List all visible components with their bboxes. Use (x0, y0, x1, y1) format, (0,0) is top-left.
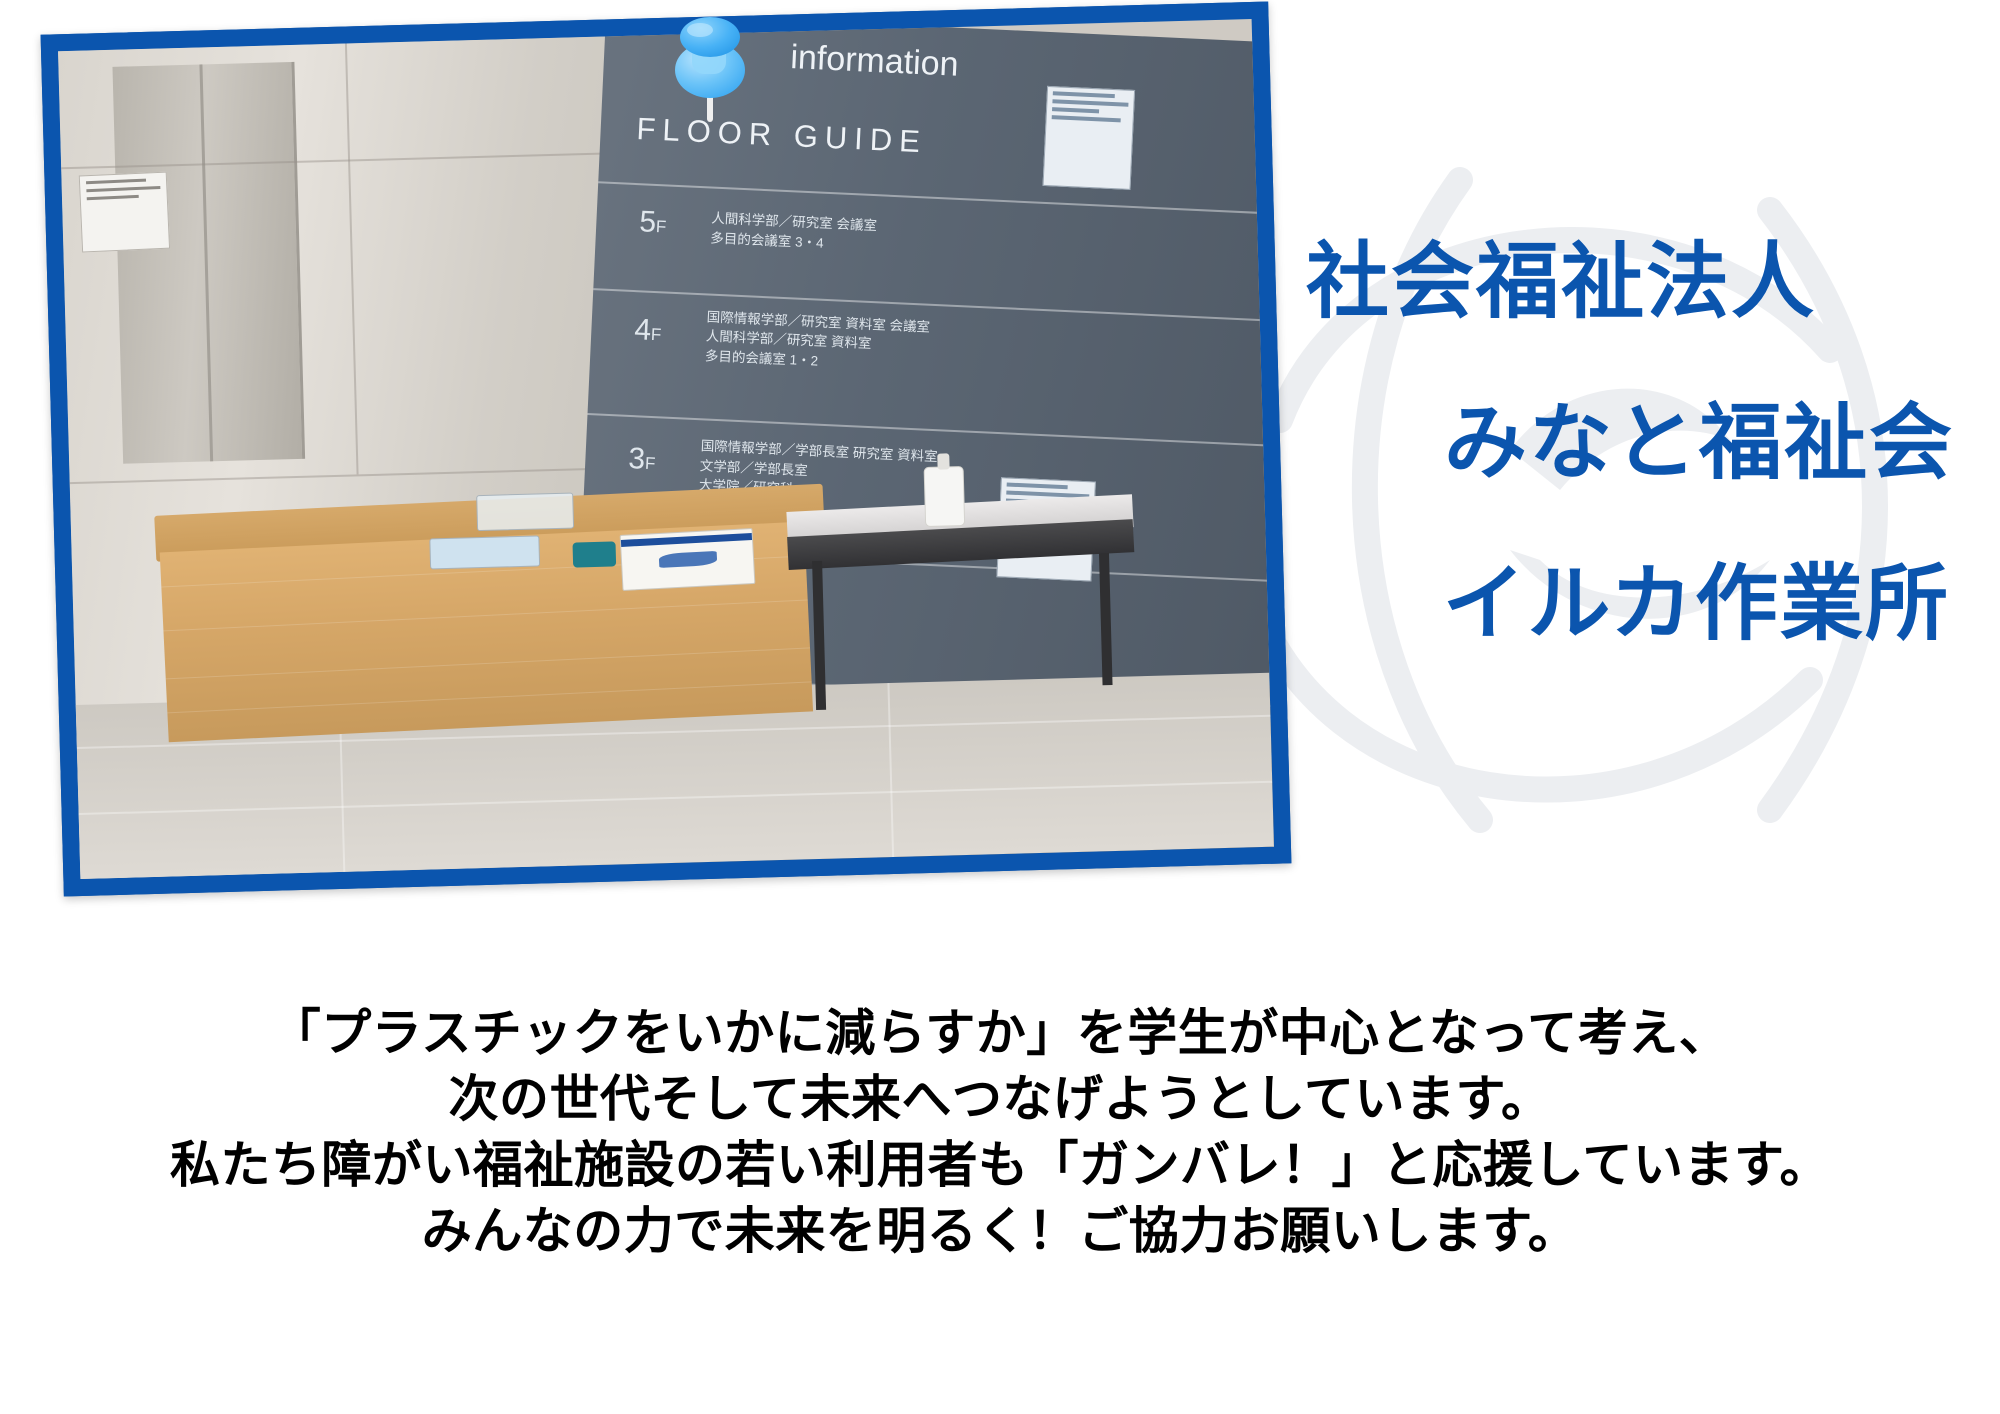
leaflet-on-table (430, 535, 540, 569)
headline-line-3: イルカ作業所 (1290, 562, 1950, 645)
sign-brand: information (790, 38, 960, 85)
headline-line-2: みなと福祉会 (1290, 401, 1954, 484)
caption-line-4: みんなの力で未来を明るく！ご協力お願いします。 (0, 1198, 2000, 1264)
jbag-flyer-on-table (620, 528, 756, 591)
caption-line-1: 「プラスチックをいかに減らすか」を学生が中心となって考え、 (0, 1000, 2000, 1066)
no-smoking-sign (79, 172, 170, 252)
caption-line-2: 次の世代そして未来へつなげようとしています。 (0, 1066, 2000, 1132)
organization-headline: 社会福祉法人 みなと福祉会 イルカ作業所 (1290, 240, 1980, 645)
headline-line-1: 社会福祉法人 (1306, 240, 1980, 323)
elevator-doors (112, 61, 305, 463)
caption-block: 「プラスチックをいかに減らすか」を学生が中心となって考え、 次の世代そして未来へ… (0, 1000, 2000, 1264)
caption-line-3: 私たち障がい福祉施設の若い利用者も「ガンバレ！」と応援しています。 (0, 1132, 2000, 1198)
parts-case-on-table (476, 493, 574, 531)
sign-floor-number: 5F (639, 206, 668, 240)
sign-floor-number: 3F (628, 442, 657, 476)
photo-card[interactable]: information FLOOR GUIDE 5F 人間科学部／研究室 会議室… (41, 2, 1292, 897)
sign-poster (1043, 86, 1135, 190)
hand-sanitizer-bottle (923, 466, 965, 527)
group-photo: information FLOOR GUIDE 5F 人間科学部／研究室 会議室… (58, 19, 1274, 879)
sign-floor-number: 4F (634, 313, 663, 347)
pushpin-icon[interactable] (648, 4, 776, 132)
teal-device-on-table (573, 541, 617, 567)
